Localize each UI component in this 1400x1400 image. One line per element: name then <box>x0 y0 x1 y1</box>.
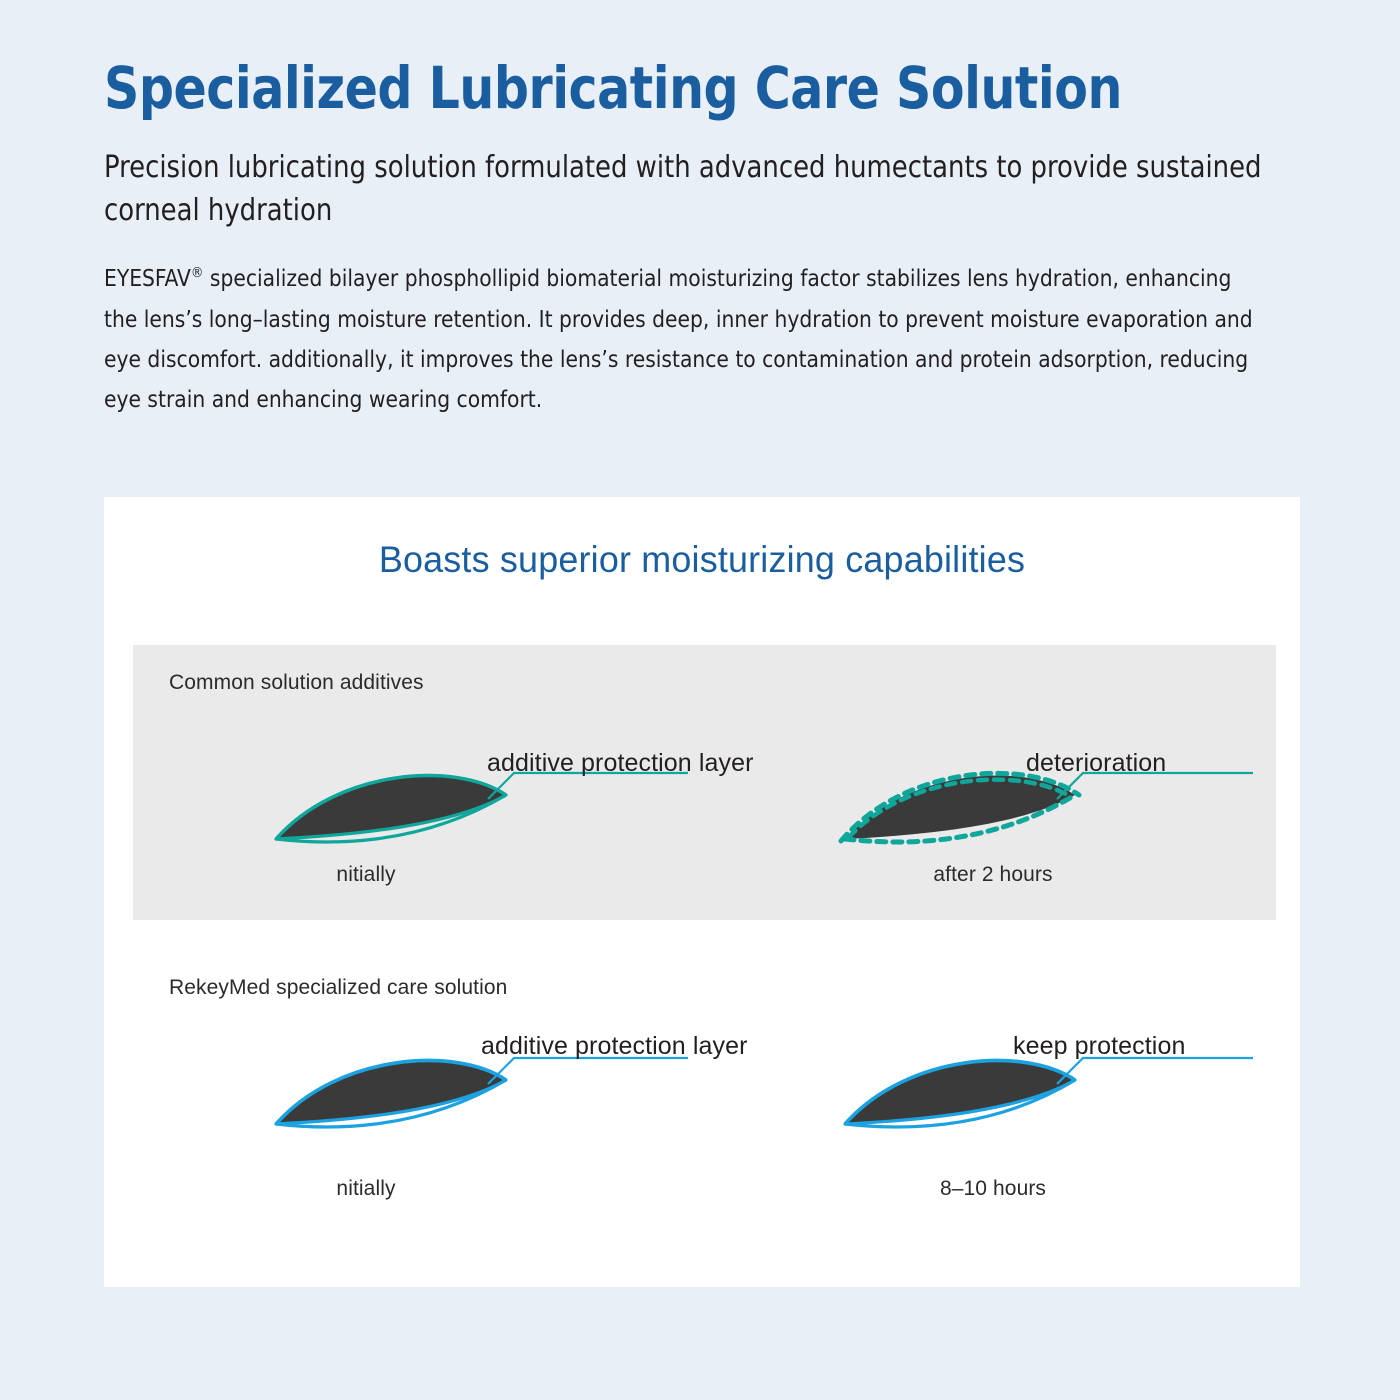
page-body-paragraph: EYESFAV® specialized bilayer phosphollip… <box>104 258 1270 420</box>
body-text: specialized bilayer phosphollipid biomat… <box>104 264 1253 413</box>
card-title: Boasts superior moisturizing capabilitie… <box>122 539 1282 581</box>
caption-8-10-hours: 8–10 hours <box>843 1177 1143 1201</box>
annotation-additive-protection-layer: additive protection layer <box>487 749 754 778</box>
caption-initially: nitially <box>216 1177 516 1201</box>
annotation-deterioration: deterioration <box>1026 749 1166 778</box>
annotation-keep-protection: keep protection <box>1013 1032 1185 1061</box>
diagram-rekeymed-8-10-hours: keep protection 8–10 hours <box>823 950 1273 1250</box>
diagram-common-initial: additive protection layer nitially <box>188 645 708 920</box>
comparison-row-common: Common solution additives additive prote… <box>133 645 1276 920</box>
leader-line <box>1057 1058 1253 1084</box>
annotation-additive-protection-layer: additive protection layer <box>481 1032 748 1061</box>
registered-trademark-icon: ® <box>191 264 204 281</box>
comparison-card: Boasts superior moisturizing capabilitie… <box>104 497 1300 1287</box>
caption-initially: nitially <box>216 863 516 887</box>
diagram-common-after-2-hours: deterioration after 2 hours <box>823 645 1273 920</box>
page-title: Specialized Lubricating Care Solution <box>104 56 1270 121</box>
page-subtitle: Precision lubricating solution formulate… <box>104 147 1294 232</box>
lens-body <box>276 776 506 839</box>
brand-name: EYESFAV <box>104 264 191 292</box>
lens-body <box>276 1061 506 1124</box>
comparison-row-rekeymed: RekeyMed specialized care solution addit… <box>133 950 1276 1250</box>
diagram-rekeymed-initial: additive protection layer nitially <box>188 950 708 1250</box>
caption-after-2-hours: after 2 hours <box>843 863 1143 887</box>
page-header: Specialized Lubricating Care Solution Pr… <box>104 56 1344 420</box>
leader-line <box>488 1058 688 1084</box>
lens-body <box>845 1061 1075 1124</box>
